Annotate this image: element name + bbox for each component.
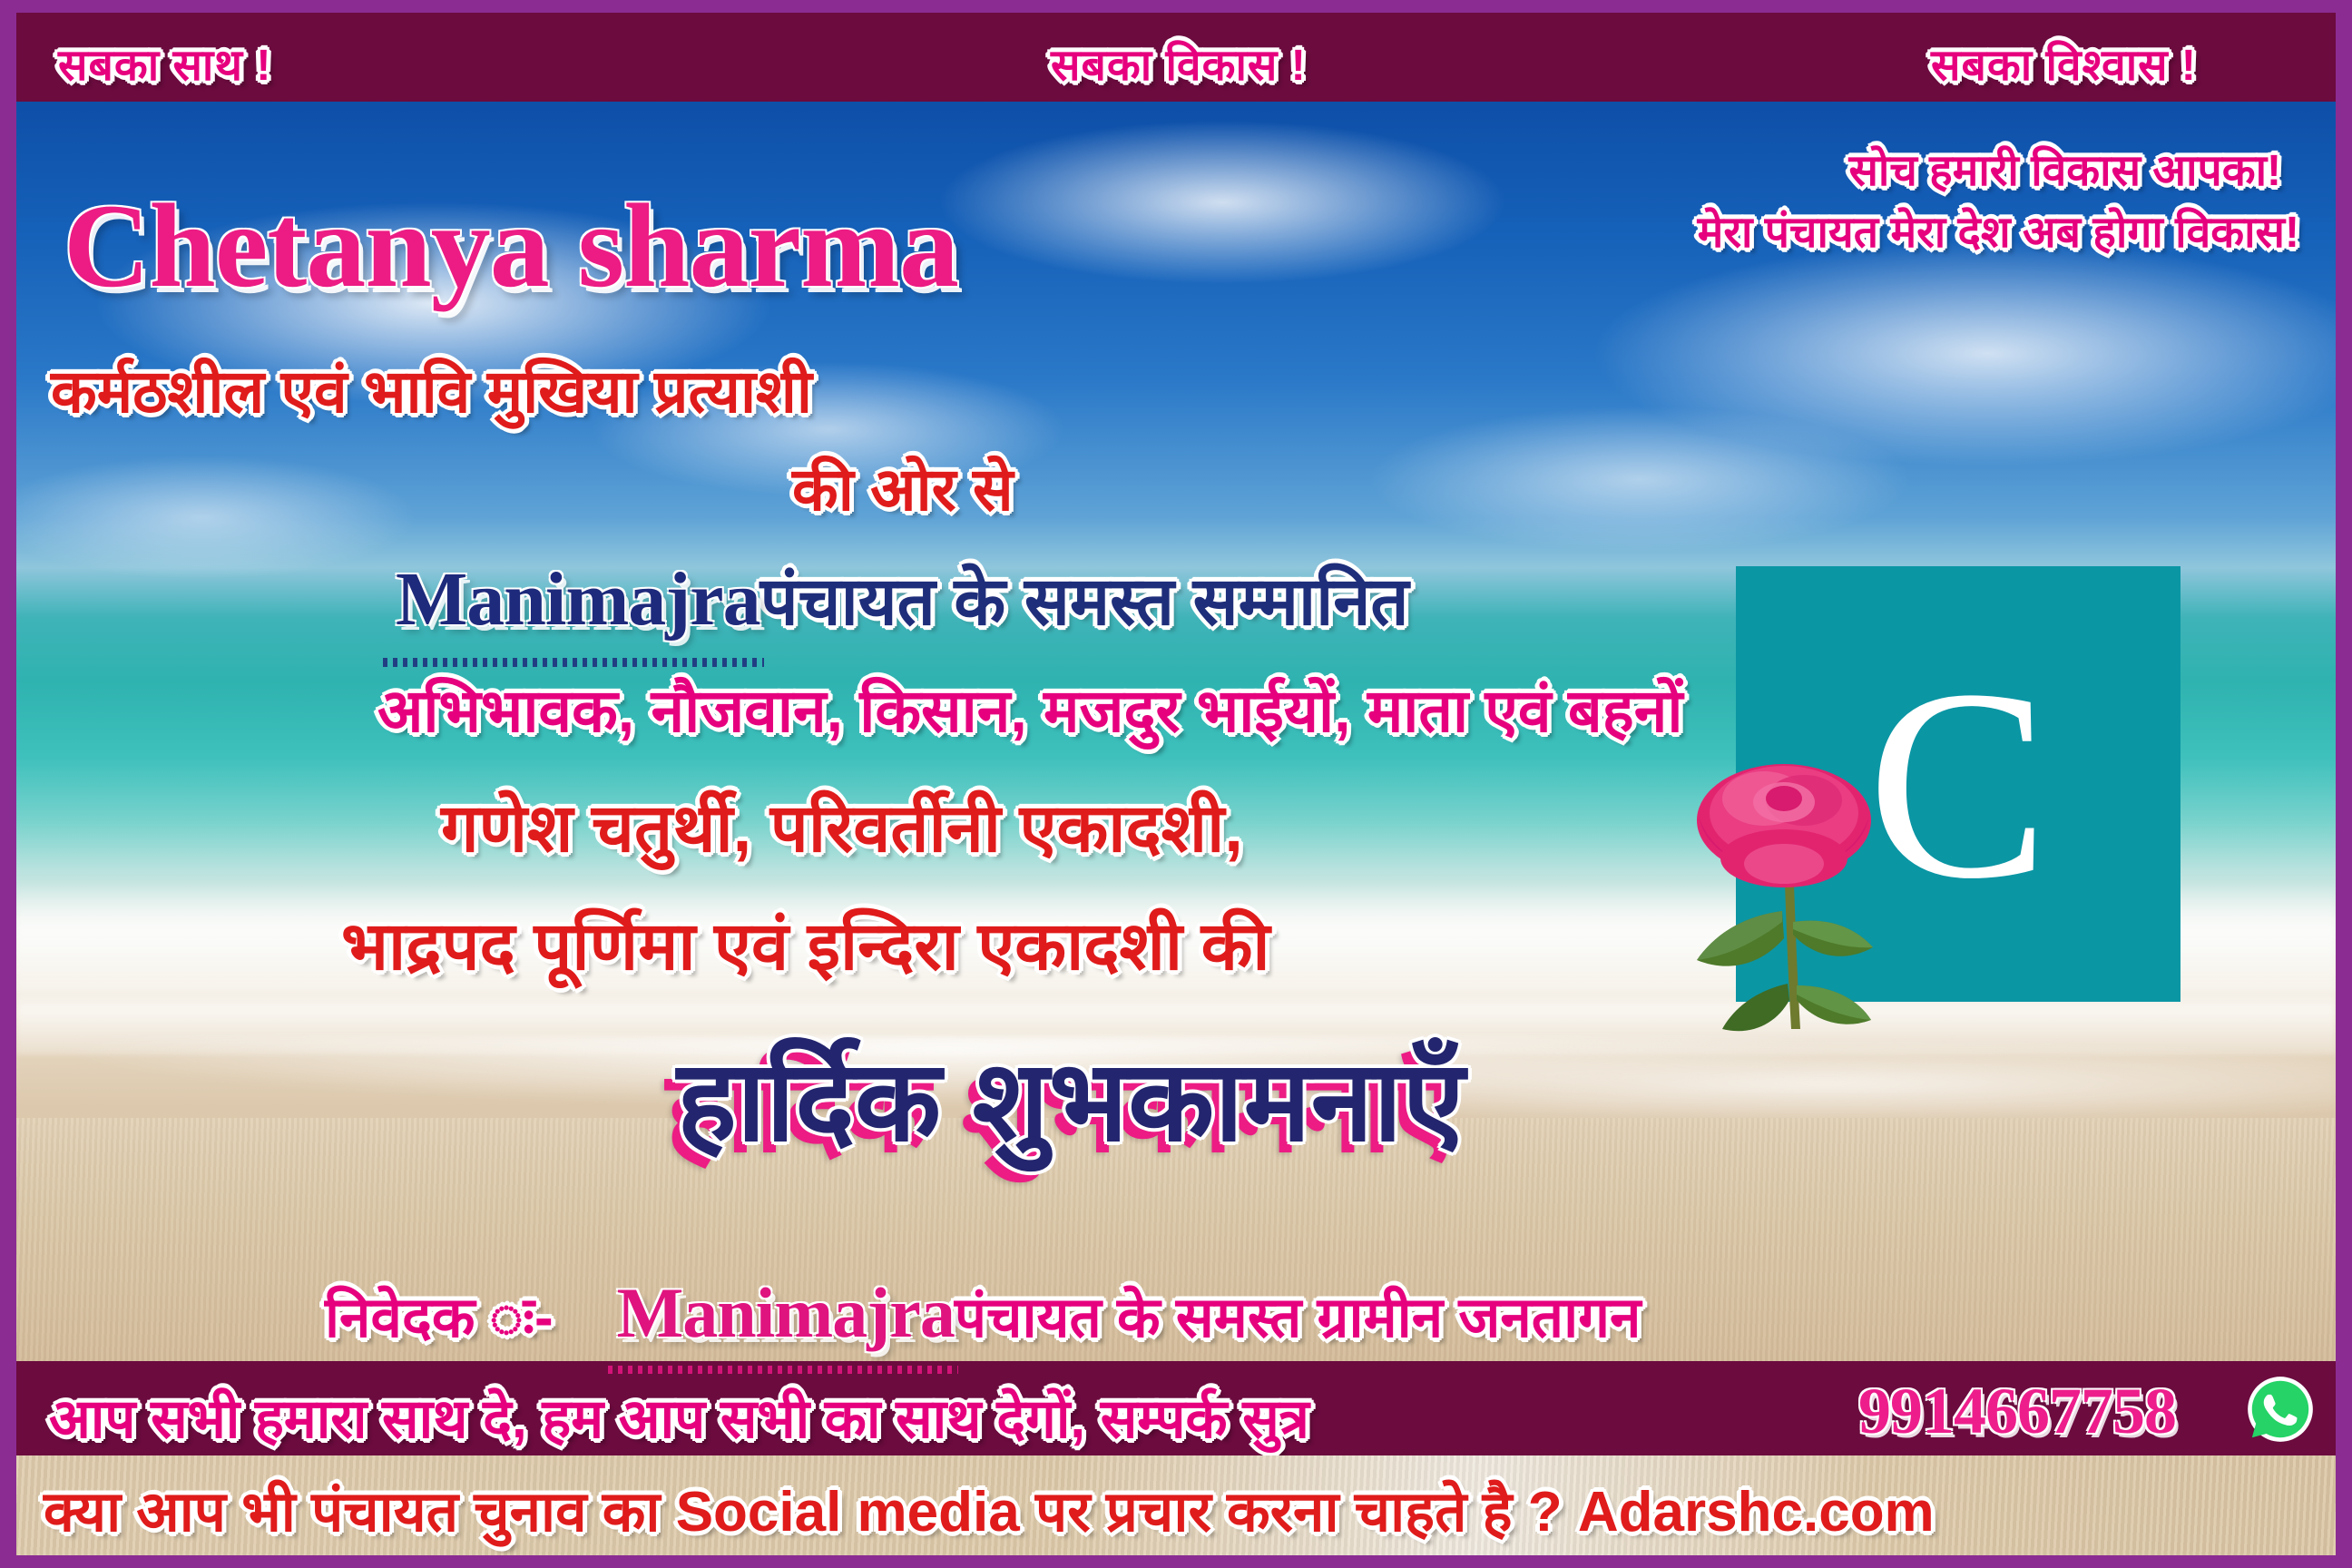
candidate-role-line: कर्मठशील एवं भावि मुखिया प्रत्याशी [51,348,812,430]
festival-line-2: भाद्रपद पूर्णिमा एवं इन्दिरा एकादशी की [341,897,1270,989]
panchayat-suffix: पंचायत के समस्त सम्मानित [760,553,1409,644]
candidate-from-line: की ओर से [792,446,1014,528]
election-greeting-poster: सबका साथ ! सबका विकास ! सबका विश्वास ! C… [0,0,2352,1568]
tagline-line-2: मेरा पंचायत मेरा देश अब होगा विकास! [1698,201,2299,260]
panchayat-name: Manimajra [396,555,760,643]
slogan-sabka-vishwas: सबका विश्वास ! [1931,34,2197,93]
sender-panchayat-name: Manimajra [617,1272,955,1354]
audience-line: अभिभावक, नौजवान, किसान, मजदुर भाईयों, मा… [377,668,1682,750]
rose-flower-icon [1677,757,1913,1065]
promo-text: क्या आप भी पंचायत चुनाव का Social media … [44,1472,1935,1548]
tagline-line-1: सोच हमारी विकास आपका! [1848,140,2281,199]
festival-line-1: गणेश चतुर्थी, परिवर्तीनी एकादशी, [441,779,1243,871]
slogan-sabka-saath: सबका साथ ! [58,34,271,93]
footer-support-line: आप सभी हमारा साथ दे, हम आप सभी का साथ दे… [49,1379,1309,1454]
poster-inner-frame: सबका साथ ! सबका विकास ! सबका विश्वास ! C… [16,13,2336,1555]
greeting-text: हार्दिक शुभकामनाएँ [677,1020,1465,1173]
panchayat-line: Manimajra पंचायत के समस्त सम्मानित [396,553,1409,644]
sender-line: निवेदक ः- Manimajra पंचायत के समस्त ग्रा… [325,1272,1641,1354]
sender-suffix: पंचायत के समस्त ग्रामीन जनतागन [955,1278,1641,1354]
contact-phone-number: 9914667758 [1858,1374,2176,1449]
slogan-sabka-vikas: सबका विकास ! [1051,34,1307,93]
sender-label: निवेदक ः- [325,1278,554,1354]
whatsapp-icon[interactable] [2247,1376,2314,1443]
candidate-name: Chetanya sharma [64,176,958,315]
